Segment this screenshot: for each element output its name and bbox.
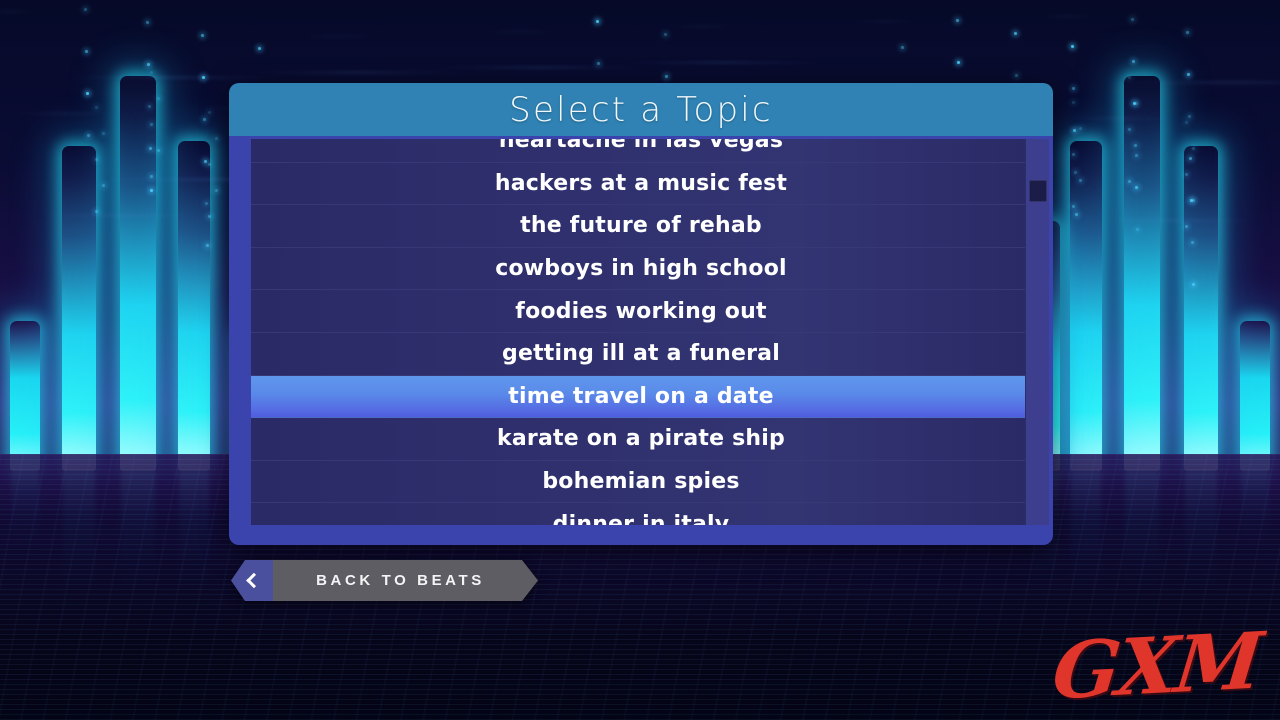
particle-dot: [205, 202, 208, 205]
particle-dot: [596, 20, 599, 23]
particle-dot: [84, 8, 87, 11]
water-streak: [1087, 219, 1268, 222]
water-streak: [665, 25, 740, 28]
water-streak: [1035, 15, 1100, 18]
particle-dot: [956, 19, 959, 22]
topic-label: bohemian spies: [542, 469, 739, 494]
particle-dot: [86, 92, 89, 95]
scrollbar-track[interactable]: [1025, 139, 1049, 525]
particle-dot: [202, 76, 205, 79]
particle-dot: [1073, 129, 1076, 132]
particle-dot: [1187, 73, 1190, 76]
game-screen: Select a Topic heartache in las vegashac…: [0, 0, 1280, 720]
gxm-logo: GXM: [1048, 616, 1264, 718]
topic-label: foodies working out: [515, 299, 766, 324]
particle-dot: [1072, 153, 1075, 156]
particle-dot: [1188, 115, 1191, 118]
particle-dot: [150, 71, 153, 74]
chevron-left-icon: [231, 560, 273, 601]
neon-bar: [10, 321, 40, 471]
scrollbar-thumb[interactable]: [1029, 180, 1047, 202]
topic-row[interactable]: the future of rehab: [251, 205, 1031, 248]
particle-dot: [1134, 144, 1137, 147]
particle-dot: [146, 21, 149, 24]
particle-dot: [148, 105, 151, 108]
particle-dot: [1128, 180, 1131, 183]
water-streak: [1061, 117, 1184, 120]
particle-dot: [208, 111, 211, 114]
particle-dot: [215, 189, 218, 192]
topic-label: time travel on a date: [508, 384, 773, 409]
water-streak: [243, 71, 472, 74]
particle-dot: [203, 118, 206, 121]
page-title: Select a Topic: [229, 83, 1053, 136]
neon-bar: [120, 76, 156, 471]
particle-dot: [1192, 147, 1195, 150]
particle-dot: [258, 47, 261, 50]
topic-label: dinner in italy: [553, 512, 730, 525]
topic-label: heartache in las vegas: [499, 139, 783, 153]
particle-dot: [150, 175, 153, 178]
particle-dot: [206, 244, 209, 247]
topic-row[interactable]: foodies working out: [251, 290, 1031, 333]
water-streak: [295, 35, 380, 38]
particle-dot: [1135, 102, 1138, 105]
particle-dot: [1071, 45, 1074, 48]
neon-bar: [178, 141, 210, 471]
particle-dot: [95, 158, 98, 161]
neon-bar: [62, 146, 96, 471]
water-streak: [58, 76, 292, 79]
water-streak: [32, 214, 208, 217]
topic-label: getting ill at a funeral: [502, 341, 780, 366]
particle-dot: [1132, 60, 1135, 63]
topic-row[interactable]: dinner in italy: [251, 503, 1031, 525]
particle-dot: [1192, 199, 1195, 202]
particle-dot: [901, 46, 904, 49]
particle-dot: [204, 160, 207, 163]
particle-dot: [150, 189, 153, 192]
particle-dot: [157, 97, 160, 100]
particle-dot: [1128, 128, 1131, 131]
particle-dot: [85, 50, 88, 53]
particle-dot: [1075, 213, 1078, 216]
topic-row[interactable]: hackers at a music fest: [251, 163, 1031, 206]
neon-bar: [1240, 321, 1270, 471]
water-streak: [428, 66, 652, 69]
particle-dot: [1135, 154, 1138, 157]
particle-dot: [1185, 225, 1188, 228]
particle-dot: [1079, 179, 1082, 182]
topic-row[interactable]: karate on a pirate ship: [251, 418, 1031, 461]
particle-dot: [95, 106, 98, 109]
topic-list[interactable]: heartache in las vegashackers at a music…: [251, 139, 1031, 525]
back-button-label: BACK TO BEATS: [273, 560, 538, 601]
neon-bar: [1184, 146, 1218, 471]
particle-dot: [1189, 157, 1192, 160]
particle-dot: [1074, 171, 1077, 174]
water-streak: [480, 30, 560, 33]
particle-dot: [149, 147, 152, 150]
particle-dot: [1192, 283, 1195, 286]
particle-dot: [1131, 18, 1134, 21]
topic-label: cowboys in high school: [495, 256, 787, 281]
particle-dot: [150, 123, 153, 126]
particle-dot: [1136, 228, 1139, 231]
particle-dot: [1079, 127, 1082, 130]
particle-dot: [1072, 205, 1075, 208]
chevron-left-glyph: [246, 573, 262, 589]
particle-dot: [201, 34, 204, 37]
particle-dot: [664, 33, 667, 36]
particle-dot: [157, 149, 160, 152]
particle-dot: [957, 61, 960, 64]
topic-row[interactable]: cowboys in high school: [251, 248, 1031, 291]
topic-row-selected[interactable]: time travel on a date: [251, 376, 1031, 419]
back-to-beats-button[interactable]: BACK TO BEATS: [231, 560, 538, 601]
particle-dot: [208, 163, 211, 166]
particle-dot: [1191, 241, 1194, 244]
neon-bar: [1124, 76, 1160, 471]
particle-dot: [102, 132, 105, 135]
particle-dot: [215, 137, 218, 140]
topic-label: karate on a pirate ship: [497, 426, 785, 451]
particle-dot: [1186, 31, 1189, 34]
particle-dot: [1135, 186, 1138, 189]
topic-row[interactable]: getting ill at a funeral: [251, 333, 1031, 376]
particle-dot: [87, 134, 90, 137]
particle-dot: [1072, 87, 1075, 90]
topic-label: the future of rehab: [520, 213, 762, 238]
particle-dot: [147, 63, 150, 66]
particle-dot: [1014, 32, 1017, 35]
topic-select-panel: Select a Topic heartache in las vegashac…: [229, 83, 1053, 545]
topic-row[interactable]: bohemian spies: [251, 461, 1031, 504]
particle-dot: [1185, 173, 1188, 176]
particle-dot: [665, 75, 668, 78]
particle-dot: [1015, 74, 1018, 77]
water-streak: [850, 20, 920, 23]
topic-row[interactable]: heartache in las vegas: [251, 139, 1031, 163]
particle-dot: [95, 210, 98, 213]
particle-dot: [208, 215, 211, 218]
particle-dot: [1072, 101, 1075, 104]
water-streak: [6, 112, 124, 115]
particle-dot: [597, 62, 600, 65]
topic-label: hackers at a music fest: [495, 171, 787, 196]
neon-bar: [1070, 141, 1102, 471]
water-streak: [613, 61, 832, 64]
particle-dot: [102, 184, 105, 187]
particle-dot: [1128, 76, 1131, 79]
particle-dot: [1185, 121, 1188, 124]
